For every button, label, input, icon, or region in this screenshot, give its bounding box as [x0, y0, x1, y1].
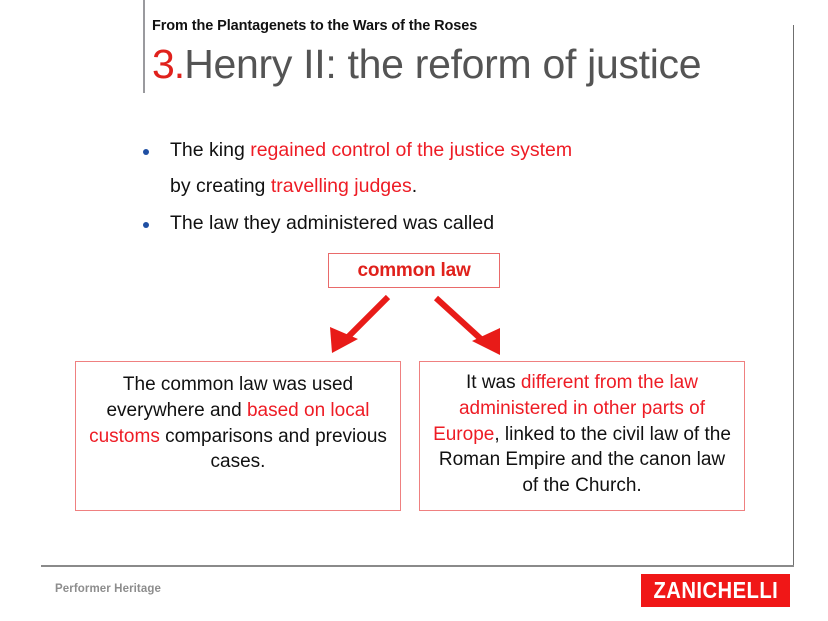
bullet-dot-icon: [143, 149, 149, 155]
arrow-down-right-icon: [436, 298, 500, 355]
bullet-1-seg-1: The king: [170, 139, 250, 161]
slide-canvas: From the Plantagenets to the Wars of the…: [0, 0, 828, 621]
footer-brand-label: Performer Heritage: [55, 583, 161, 595]
bullet-1-seg-2: regained control of the justice system: [250, 139, 572, 161]
gradient-square-logo-icon: [41, 0, 129, 92]
title-text: Henry II: the reform of justice: [184, 41, 701, 87]
frame-right-line: [793, 25, 794, 566]
frame-bottom-line: [41, 565, 794, 567]
bullet-list: The king regained control of the justice…: [136, 139, 776, 234]
info-box-left: The common law was used everywhere and b…: [75, 361, 401, 511]
bullet-dot-icon: [143, 222, 149, 228]
common-law-callout-box: common law: [328, 253, 500, 288]
zanichelli-wordmark: ZANICHELLI: [653, 577, 778, 604]
info-box-right: It was different from the law administer…: [419, 361, 745, 511]
list-item-continuation: by creating travelling judges.: [136, 177, 776, 197]
logo-inner-square: [53, 12, 117, 79]
box-left-seg-3: comparisons and previous cases.: [160, 426, 387, 473]
list-item: The king regained control of the justice…: [136, 141, 776, 161]
bullet-1b-seg-2: travelling judges: [271, 175, 412, 197]
bullet-1b-seg-1: by creating: [170, 175, 271, 197]
common-law-label: common law: [357, 260, 470, 282]
bullet-1b-seg-3: .: [412, 175, 417, 197]
list-item: The law they administered was called: [136, 214, 776, 234]
box-right-seg-1: It was: [466, 372, 521, 393]
slide-kicker: From the Plantagenets to the Wars of the…: [152, 18, 477, 34]
arrow-group: [310, 295, 525, 357]
page-title: 3.Henry II: the reform of justice: [152, 44, 701, 85]
arrow-down-left-icon: [330, 297, 388, 353]
zanichelli-logo: ZANICHELLI: [641, 574, 790, 607]
bullet-2-seg-1: The law they administered was called: [170, 212, 494, 234]
header-vertical-divider: [143, 0, 145, 93]
title-number: 3.: [152, 41, 184, 87]
